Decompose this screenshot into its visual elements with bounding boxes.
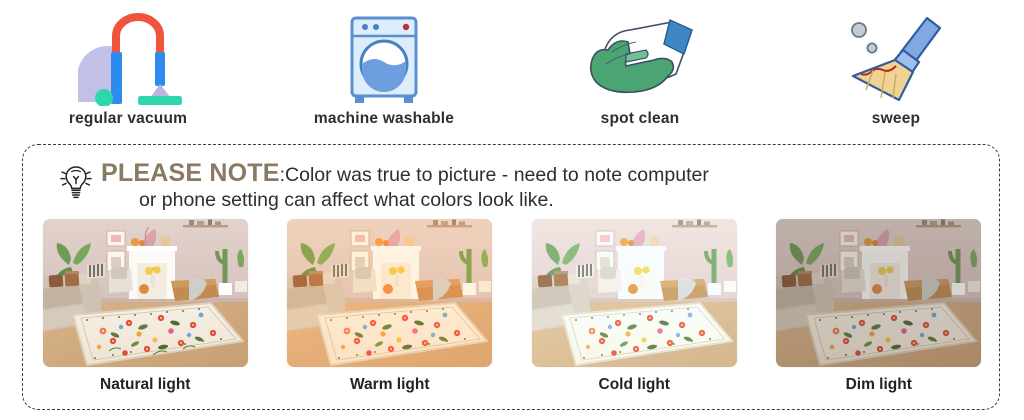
room-scene-art <box>776 219 981 367</box>
lighting-sample-natural-light: Natural light <box>38 219 252 394</box>
note-line-1: PLEASE NOTE:Color was true to picture - … <box>101 159 709 188</box>
lighting-comparison-row: Natural light <box>23 219 1001 405</box>
room-scene-art <box>532 219 737 367</box>
note-body-text: :Color was true to picture - need to not… <box>280 164 709 187</box>
care-item-spot-clean: spot clean <box>512 0 768 138</box>
lighting-sample-dim-light: Dim light <box>772 219 986 394</box>
please-note-panel: PLEASE NOTE:Color was true to picture - … <box>22 144 1000 410</box>
care-item-label: regular vacuum <box>69 110 187 128</box>
note-text-block: PLEASE NOTE:Color was true to picture - … <box>101 157 709 212</box>
lighting-sample-label: Warm light <box>350 376 430 394</box>
care-item-label: sweep <box>872 110 920 128</box>
hand-cloth-icon <box>580 8 700 106</box>
lighting-sample-warm-light: Warm light <box>283 219 497 394</box>
lighting-sample-label: Natural light <box>100 376 190 394</box>
washing-machine-icon <box>341 8 427 106</box>
care-item-sweep: sweep <box>768 0 1024 138</box>
lightbulb-icon <box>53 159 99 205</box>
lighting-sample-cold-light: Cold light <box>527 219 741 394</box>
room-photo[interactable] <box>43 219 248 367</box>
room-photo[interactable] <box>532 219 737 367</box>
lighting-sample-label: Cold light <box>599 376 670 394</box>
room-photo[interactable] <box>287 219 492 367</box>
care-item-machine-washable: machine washable <box>256 0 512 138</box>
care-item-label: machine washable <box>314 110 454 128</box>
room-scene-art <box>287 219 492 367</box>
room-photo[interactable] <box>776 219 981 367</box>
broom-icon <box>841 8 951 106</box>
care-instructions-row: regular vacuum machine washable <box>0 0 1024 138</box>
care-item-label: spot clean <box>601 110 680 128</box>
care-item-regular-vacuum: regular vacuum <box>0 0 256 138</box>
please-note-heading: PLEASE NOTE <box>101 159 280 188</box>
note-line-2: or phone setting can affect what colors … <box>139 189 709 212</box>
note-header: PLEASE NOTE:Color was true to picture - … <box>53 157 985 212</box>
vacuum-icon <box>72 8 184 106</box>
room-scene-art <box>43 219 248 367</box>
lighting-sample-label: Dim light <box>846 376 912 394</box>
